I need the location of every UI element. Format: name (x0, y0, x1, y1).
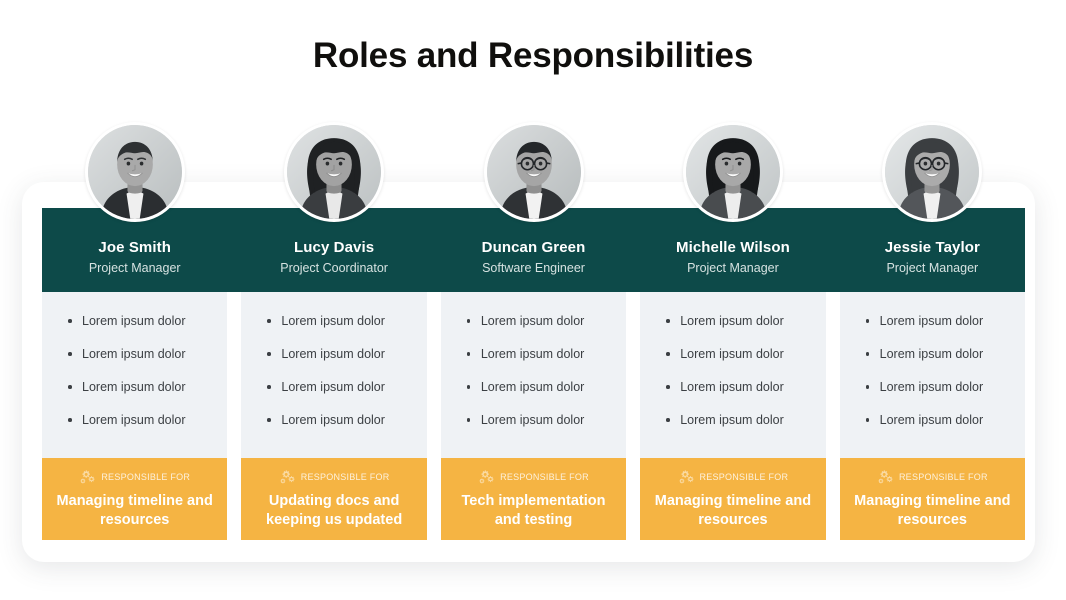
responsible-for-header: RESPONSIBLE FOR (478, 469, 589, 485)
responsibilities-panel: Lorem ipsum dolorLorem ipsum dolorLorem … (441, 292, 626, 458)
responsible-for-footer: RESPONSIBLE FOR Managing timeline and re… (42, 458, 227, 540)
bullet-item: Lorem ipsum dolor (267, 413, 416, 428)
person-role: Project Coordinator (280, 261, 388, 276)
bullet-item: Lorem ipsum dolor (666, 314, 815, 329)
bullet-item: Lorem ipsum dolor (866, 413, 1015, 428)
responsible-for-text: Tech implementation and testing (441, 492, 626, 529)
responsible-for-text: Managing timeline and resources (840, 492, 1025, 529)
bullet-item: Lorem ipsum dolor (467, 347, 616, 362)
responsible-for-header: RESPONSIBLE FOR (79, 469, 190, 485)
responsible-for-label: RESPONSIBLE FOR (301, 473, 390, 482)
bullet-list: Lorem ipsum dolorLorem ipsum dolorLorem … (441, 314, 626, 428)
gears-icon (678, 470, 695, 485)
responsible-for-text: Managing timeline and resources (640, 492, 825, 529)
bullet-item: Lorem ipsum dolor (267, 380, 416, 395)
gears-icon (279, 470, 296, 485)
person-role: Project Manager (89, 261, 181, 276)
bullet-item: Lorem ipsum dolor (467, 380, 616, 395)
responsible-for-text: Updating docs and keeping us updated (241, 492, 426, 529)
bullet-item: Lorem ipsum dolor (866, 380, 1015, 395)
responsible-for-header: RESPONSIBLE FOR (678, 469, 789, 485)
bullet-item: Lorem ipsum dolor (866, 314, 1015, 329)
person-header: Duncan Green Software Engineer (441, 208, 626, 292)
bullet-item: Lorem ipsum dolor (866, 347, 1015, 362)
responsible-for-footer: RESPONSIBLE FOR Updating docs and keepin… (241, 458, 426, 540)
bullet-item: Lorem ipsum dolor (666, 380, 815, 395)
bullet-list: Lorem ipsum dolorLorem ipsum dolorLorem … (840, 314, 1025, 428)
responsibilities-panel: Lorem ipsum dolorLorem ipsum dolorLorem … (241, 292, 426, 458)
responsible-for-footer: RESPONSIBLE FOR Managing timeline and re… (640, 458, 825, 540)
bullet-item: Lorem ipsum dolor (68, 413, 217, 428)
slide-root: Roles and Responsibilities Joe Smith Pro… (0, 0, 1066, 600)
person-header: Joe Smith Project Manager (42, 208, 227, 292)
role-column: Lucy Davis Project Coordinator Lorem ips… (241, 208, 426, 540)
bullet-item: Lorem ipsum dolor (666, 413, 815, 428)
responsible-for-text: Managing timeline and resources (42, 492, 227, 529)
responsibilities-panel: Lorem ipsum dolorLorem ipsum dolorLorem … (42, 292, 227, 458)
responsible-for-header: RESPONSIBLE FOR (877, 469, 988, 485)
bullet-list: Lorem ipsum dolorLorem ipsum dolorLorem … (241, 314, 426, 428)
person-header: Jessie Taylor Project Manager (840, 208, 1025, 292)
gears-icon (79, 470, 96, 485)
bullet-item: Lorem ipsum dolor (267, 314, 416, 329)
bullet-item: Lorem ipsum dolor (267, 347, 416, 362)
bullet-list: Lorem ipsum dolorLorem ipsum dolorLorem … (640, 314, 825, 428)
person-header: Michelle Wilson Project Manager (640, 208, 825, 292)
responsible-for-label: RESPONSIBLE FOR (899, 473, 988, 482)
bullet-item: Lorem ipsum dolor (467, 314, 616, 329)
person-name: Joe Smith (98, 239, 171, 257)
responsibilities-panel: Lorem ipsum dolorLorem ipsum dolorLorem … (840, 292, 1025, 458)
bullet-item: Lorem ipsum dolor (68, 314, 217, 329)
bullet-item: Lorem ipsum dolor (467, 413, 616, 428)
bullet-item: Lorem ipsum dolor (666, 347, 815, 362)
person-role: Project Manager (687, 261, 779, 276)
person-name: Duncan Green (482, 239, 586, 257)
responsibilities-panel: Lorem ipsum dolorLorem ipsum dolorLorem … (640, 292, 825, 458)
bullet-item: Lorem ipsum dolor (68, 347, 217, 362)
bullet-item: Lorem ipsum dolor (68, 380, 217, 395)
gears-icon (877, 470, 894, 485)
role-column: Michelle Wilson Project Manager Lorem ip… (640, 208, 825, 540)
responsible-for-label: RESPONSIBLE FOR (700, 473, 789, 482)
responsible-for-label: RESPONSIBLE FOR (101, 473, 190, 482)
role-column: Jessie Taylor Project Manager Lorem ipsu… (840, 208, 1025, 540)
person-header: Lucy Davis Project Coordinator (241, 208, 426, 292)
person-name: Jessie Taylor (885, 239, 980, 257)
columns-container: Joe Smith Project Manager Lorem ipsum do… (42, 208, 1025, 540)
person-name: Michelle Wilson (676, 239, 790, 257)
gears-icon (478, 470, 495, 485)
person-role: Software Engineer (482, 261, 585, 276)
role-column: Duncan Green Software Engineer Lorem ips… (441, 208, 626, 540)
person-name: Lucy Davis (294, 239, 374, 257)
responsible-for-header: RESPONSIBLE FOR (279, 469, 390, 485)
person-role: Project Manager (886, 261, 978, 276)
responsible-for-footer: RESPONSIBLE FOR Managing timeline and re… (840, 458, 1025, 540)
responsible-for-label: RESPONSIBLE FOR (500, 473, 589, 482)
bullet-list: Lorem ipsum dolorLorem ipsum dolorLorem … (42, 314, 227, 428)
role-column: Joe Smith Project Manager Lorem ipsum do… (42, 208, 227, 540)
page-title: Roles and Responsibilities (0, 36, 1066, 76)
responsible-for-footer: RESPONSIBLE FOR Tech implementation and … (441, 458, 626, 540)
